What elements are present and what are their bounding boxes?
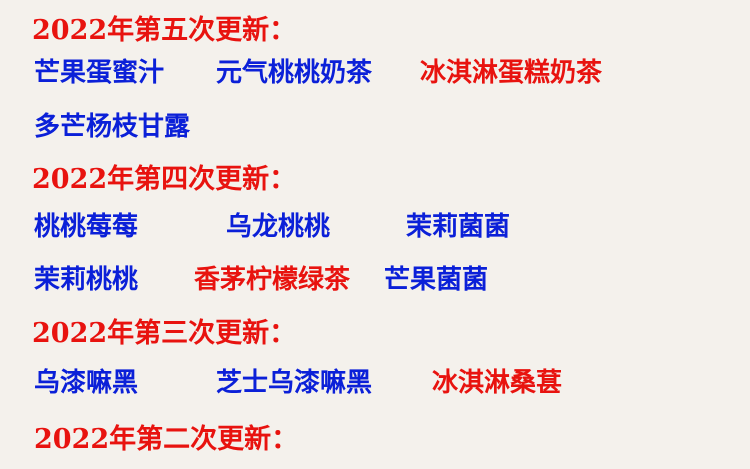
item-row: 茉莉桃桃香茅柠檬绿茶芒果菌菌 (34, 259, 488, 296)
section-heading-update-4: 2022年第四次更新： (32, 157, 296, 196)
list-item: 香茅柠檬绿茶 (194, 259, 350, 296)
section-heading-update-2: 2022年第二次更新： (34, 417, 298, 456)
item-row: 芒果蛋蜜汁元气桃桃奶茶冰淇淋蛋糕奶茶 (34, 52, 602, 89)
document-page: 2022年第五次更新： 芒果蛋蜜汁元气桃桃奶茶冰淇淋蛋糕奶茶 多芒杨枝甘露 20… (0, 0, 750, 469)
section-heading-update-5: 2022年第五次更新： (32, 8, 296, 47)
list-item: 芝士乌漆嘛黑 (216, 362, 372, 399)
item-row: 多芒杨枝甘露 (34, 106, 190, 143)
list-item: 芒果菌菌 (384, 259, 488, 296)
item-row: 桃桃莓莓乌龙桃桃茉莉菌菌 (34, 206, 510, 243)
list-item: 多芒杨枝甘露 (34, 106, 190, 143)
list-item: 冰淇淋蛋糕奶茶 (420, 52, 602, 89)
list-item: 元气桃桃奶茶 (216, 52, 372, 89)
section-heading-update-3: 2022年第三次更新： (32, 311, 296, 350)
item-row: 乌漆嘛黑芝士乌漆嘛黑冰淇淋桑葚 (34, 362, 562, 399)
list-item: 茉莉菌菌 (406, 206, 510, 243)
list-item: 桃桃莓莓 (34, 206, 138, 243)
list-item: 冰淇淋桑葚 (432, 362, 562, 399)
list-item: 乌龙桃桃 (226, 206, 330, 243)
list-item: 芒果蛋蜜汁 (34, 52, 164, 89)
list-item: 乌漆嘛黑 (34, 362, 138, 399)
list-item: 茉莉桃桃 (34, 259, 138, 296)
